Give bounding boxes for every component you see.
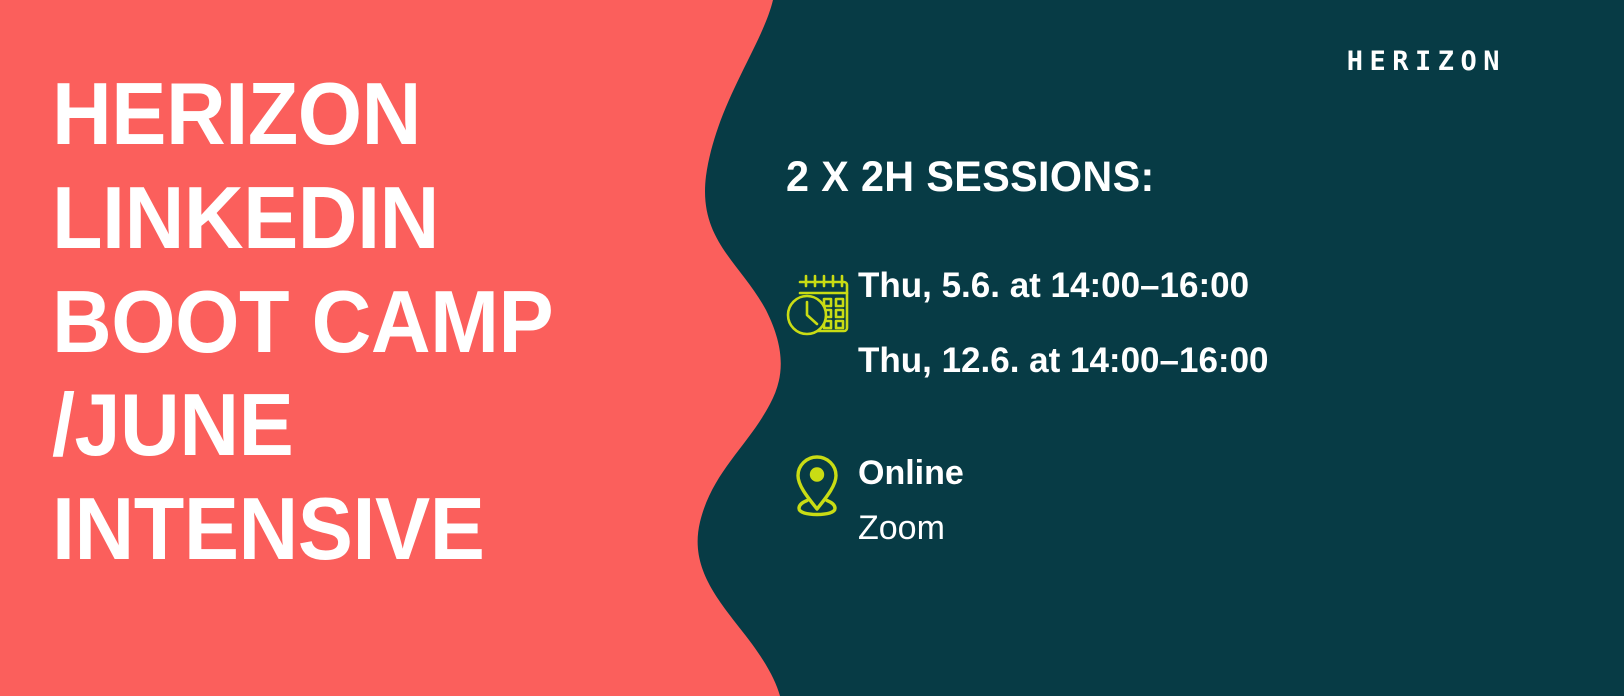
- location-name: Online: [858, 456, 964, 490]
- map-pin-icon-glyph: [792, 452, 842, 518]
- headline-line-2: LINKEDIN: [52, 166, 654, 270]
- map-pin-icon: [792, 452, 858, 518]
- location-text-group: Online Zoom: [858, 452, 964, 545]
- location-platform: Zoom: [858, 511, 964, 545]
- calendar-clock-icon-glyph: [786, 268, 850, 336]
- location-info-block: Online Zoom: [792, 452, 964, 545]
- headline-line-1: HERIZON: [52, 62, 654, 166]
- headline-line-4: /JUNE: [52, 373, 654, 477]
- session-date-1: Thu, 5.6. at 14:00–16:00: [858, 268, 1269, 303]
- session-date-2: Thu, 12.6. at 14:00–16:00: [858, 343, 1269, 378]
- herizon-logo: HERIZON: [1347, 48, 1506, 75]
- headline-line-3: BOOT CAMP: [52, 270, 654, 374]
- event-banner: HERIZON LINKEDIN BOOT CAMP /JUNE INTENSI…: [0, 0, 1624, 696]
- headline-line-5: INTENSIVE: [52, 477, 654, 581]
- dates-text-group: Thu, 5.6. at 14:00–16:00 Thu, 12.6. at 1…: [858, 268, 1269, 378]
- calendar-clock-icon: [786, 268, 858, 336]
- sessions-heading: 2 X 2H SESSIONS:: [786, 156, 1155, 199]
- dates-info-block: Thu, 5.6. at 14:00–16:00 Thu, 12.6. at 1…: [786, 268, 1269, 378]
- page-title: HERIZON LINKEDIN BOOT CAMP /JUNE INTENSI…: [52, 62, 654, 581]
